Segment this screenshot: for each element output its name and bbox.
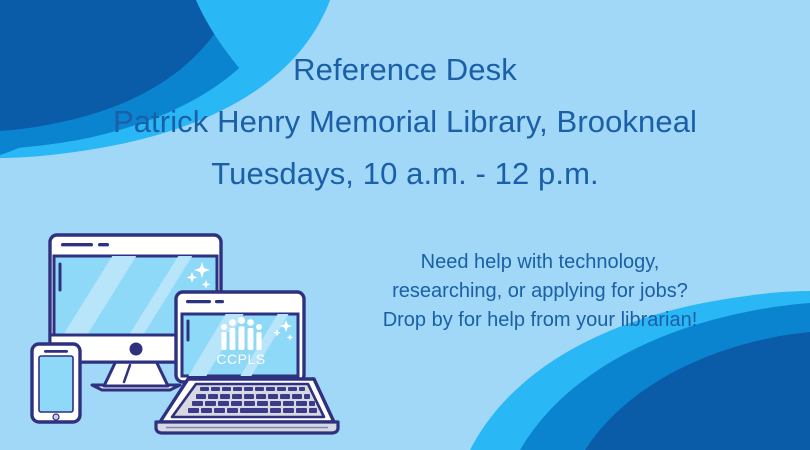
monitor-power-indicator [130,343,143,356]
body-line-2: researching, or applying for jobs? [350,277,730,306]
smartphone [32,344,80,422]
phone-home-button [53,414,59,420]
phone-screen [39,356,73,412]
laptop-titlebar-dash-1 [186,300,211,303]
ccpls-wordmark: CCPLS [216,351,265,367]
devices-illustration: CCPLS [20,228,350,440]
body-copy-block: Need help with technology, researching, … [350,248,730,335]
phone-speaker [44,350,68,353]
body-line-3: Drop by for help from your librarian! [350,306,730,335]
laptop-titlebar-dash-2 [215,300,224,303]
monitor-stand-neck [104,361,168,386]
headline-block: Reference Desk Patrick Henry Memorial Li… [0,44,810,200]
poster-canvas: Reference Desk Patrick Henry Memorial Li… [0,0,810,450]
monitor-titlebar-dash-1 [61,243,93,246]
headline-line-2: Patrick Henry Memorial Library, Brooknea… [0,96,810,148]
headline-line-3: Tuesdays, 10 a.m. - 12 p.m. [0,148,810,200]
body-line-1: Need help with technology, [350,248,730,277]
laptop: CCPLS [156,292,338,433]
monitor-titlebar-dash-2 [98,243,109,246]
headline-line-1: Reference Desk [0,44,810,96]
